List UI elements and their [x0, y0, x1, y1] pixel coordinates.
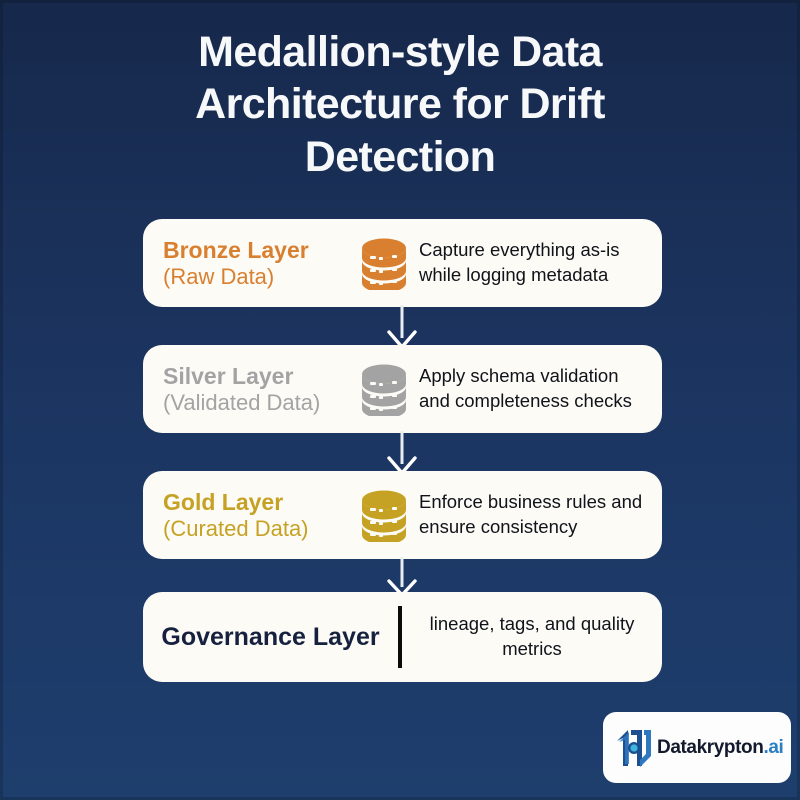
- layer-card-silver[interactable]: Silver Layer (Validated Data): [143, 345, 662, 433]
- layer-description-governance: lineage, tags, and quality metrics: [402, 612, 662, 662]
- layer-description-silver: Apply schema validation and completeness…: [415, 364, 662, 413]
- poster-canvas: Medallion-style Data Architecture for Dr…: [0, 0, 800, 800]
- architecture-flow-diagram: Bronze Layer (Raw Data): [0, 0, 800, 800]
- arrow-down-icon: [381, 557, 423, 597]
- layer-name-gold: Gold Layer: [163, 489, 353, 515]
- layer-description-bronze: Capture everything as-is while logging m…: [415, 238, 662, 287]
- layer-label-silver: Silver Layer (Validated Data): [143, 363, 353, 414]
- brand-suffix: .ai: [763, 737, 783, 758]
- layer-label-bronze: Bronze Layer (Raw Data): [143, 237, 353, 288]
- layer-qualifier-silver: (Validated Data): [163, 390, 353, 415]
- database-icon: [358, 362, 410, 416]
- brand-logo-card[interactable]: Datakrypton.ai: [603, 712, 791, 783]
- layer-name-silver: Silver Layer: [163, 363, 353, 389]
- database-icon-silver-wrap: [353, 362, 415, 416]
- database-icon-gold-wrap: [353, 488, 415, 542]
- layer-name-bronze: Bronze Layer: [163, 237, 353, 263]
- layer-qualifier-gold: (Curated Data): [163, 516, 353, 541]
- database-icon-bronze-wrap: [353, 236, 415, 290]
- layer-name-governance: Governance Layer: [143, 622, 398, 652]
- layer-card-bronze[interactable]: Bronze Layer (Raw Data): [143, 219, 662, 307]
- database-icon: [358, 488, 410, 542]
- datakrypton-logo-icon: [613, 726, 655, 770]
- brand-logo-text: Datakrypton.ai: [657, 737, 783, 759]
- layer-card-governance[interactable]: Governance Layer lineage, tags, and qual…: [143, 592, 662, 682]
- layer-qualifier-bronze: (Raw Data): [163, 264, 353, 289]
- arrow-down-icon: [381, 431, 423, 475]
- brand-name: Datakrypton: [657, 737, 763, 758]
- arrow-down-icon: [381, 305, 423, 349]
- layer-description-gold: Enforce business rules and ensure consis…: [415, 490, 662, 539]
- layer-label-gold: Gold Layer (Curated Data): [143, 489, 353, 540]
- database-icon: [358, 236, 410, 290]
- layer-card-gold[interactable]: Gold Layer (Curated Data): [143, 471, 662, 559]
